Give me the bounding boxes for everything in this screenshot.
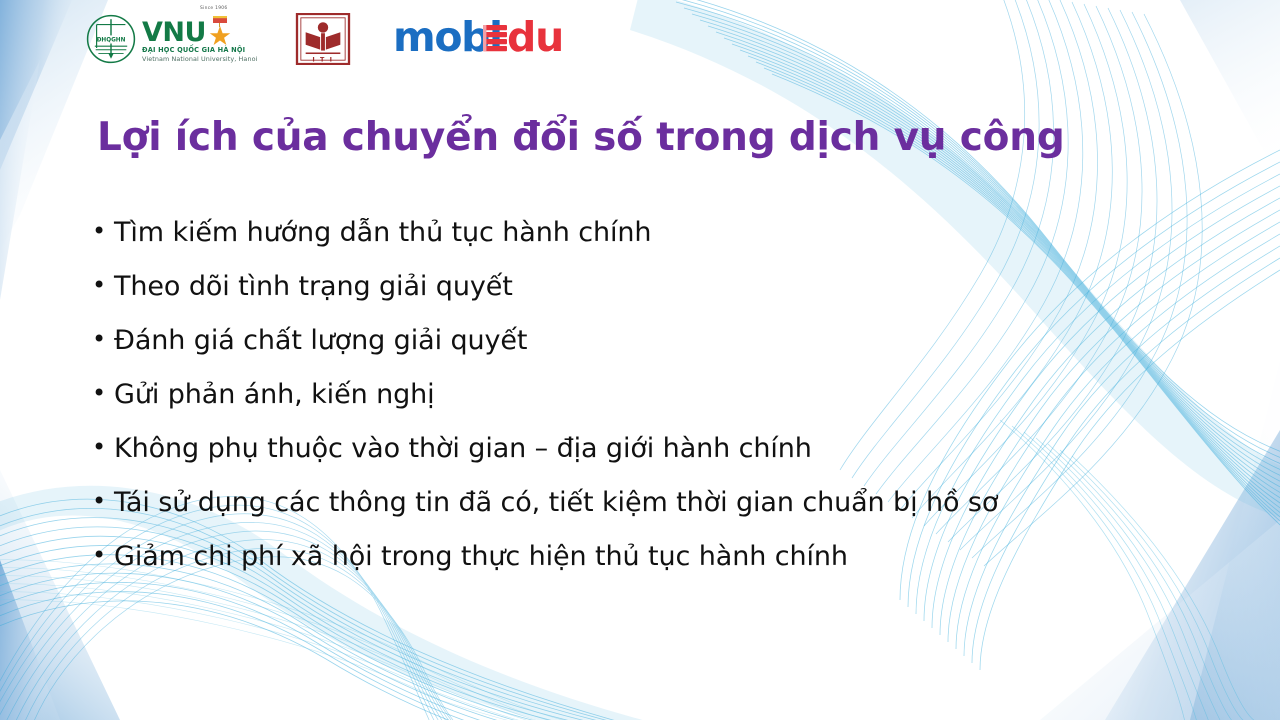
iti-wordmark: I T I xyxy=(312,57,333,64)
bullet-dot-icon: • xyxy=(92,543,114,567)
vnu-subtitle-en: Vietnam National University, Hanoi xyxy=(142,55,258,63)
iti-logo: I T I xyxy=(295,13,351,65)
vnu-since-label: Since 1906 xyxy=(200,6,227,11)
list-item-text: Không phụ thuộc vào thời gian – địa giới… xyxy=(114,434,812,464)
bullet-dot-icon: • xyxy=(92,273,114,297)
list-item-text: Giảm chi phí xã hội trong thực hiện thủ … xyxy=(114,542,848,572)
list-item: • Không phụ thuộc vào thời gian – địa gi… xyxy=(92,434,1222,488)
vnu-seal-icon: ĐHQGHN xyxy=(84,12,138,66)
vnu-wordmark: VNU xyxy=(142,20,206,46)
list-item-text: Tìm kiếm hướng dẫn thủ tục hành chính xyxy=(114,218,651,248)
list-item: • Giảm chi phí xã hội trong thực hiện th… xyxy=(92,542,1222,596)
bullet-dot-icon: • xyxy=(92,327,114,351)
vnu-logo: ĐHQGHN Since 1906 VNU ĐẠI HỌC QUỐC GIA H… xyxy=(84,9,258,69)
vnu-seal-label: ĐHQGHN xyxy=(97,38,126,44)
bullet-list: • Tìm kiếm hướng dẫn thủ tục hành chính … xyxy=(92,218,1222,596)
bullet-dot-icon: • xyxy=(92,219,114,243)
vnu-flag-star-icon xyxy=(207,15,233,45)
bullet-dot-icon: • xyxy=(92,435,114,459)
list-item: • Gửi phản ánh, kiến nghị xyxy=(92,380,1222,434)
list-item: • Tìm kiếm hướng dẫn thủ tục hành chính xyxy=(92,218,1222,272)
mobiedu-logo: mobi du xyxy=(393,15,571,63)
list-item: • Đánh giá chất lượng giải quyết xyxy=(92,326,1222,380)
page-title: Lợi ích của chuyển đổi số trong dịch vụ … xyxy=(97,116,1157,161)
list-item-text: Đánh giá chất lượng giải quyết xyxy=(114,326,527,356)
list-item-text: Theo dõi tình trạng giải quyết xyxy=(114,272,513,302)
list-item: • Theo dõi tình trạng giải quyết xyxy=(92,272,1222,326)
bullet-dot-icon: • xyxy=(92,381,114,405)
vnu-subtitle-vi: ĐẠI HỌC QUỐC GIA HÀ NỘI xyxy=(142,46,258,54)
mobiedu-text-du: du xyxy=(507,15,563,61)
list-item-text: Tái sử dụng các thông tin đã có, tiết ki… xyxy=(114,488,998,518)
list-item-text: Gửi phản ánh, kiến nghị xyxy=(114,380,435,410)
list-item: • Tái sử dụng các thông tin đã có, tiết … xyxy=(92,488,1222,542)
slide-canvas: ĐHQGHN Since 1906 VNU ĐẠI HỌC QUỐC GIA H… xyxy=(0,0,1280,720)
logo-bar: ĐHQGHN Since 1906 VNU ĐẠI HỌC QUỐC GIA H… xyxy=(84,8,571,70)
vnu-wordmark-block: Since 1906 VNU ĐẠI HỌC QUỐC GIA HÀ NỘI V… xyxy=(142,15,258,63)
mobiedu-wordmark: mobi du xyxy=(393,15,571,63)
bullet-dot-icon: • xyxy=(92,489,114,513)
